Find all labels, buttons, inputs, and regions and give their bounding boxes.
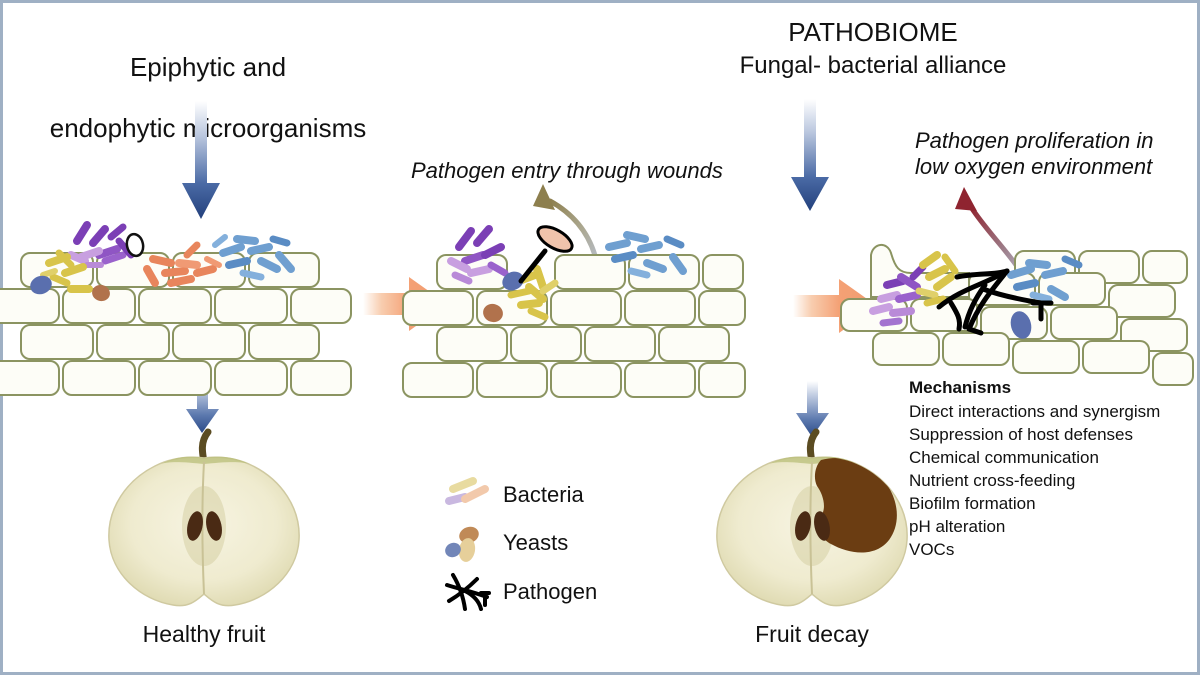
bacteria-rods-icon [443, 475, 495, 515]
legend-item-bacteria: Bacteria [443, 473, 643, 517]
mechanism-item: Direct interactions and synergism [909, 401, 1199, 424]
proliferation-annotation: Pathogen proliferation in low oxygen env… [915, 128, 1190, 181]
right-panel-title-block: PATHOBIOME Fungal- bacterial alliance [683, 17, 1063, 80]
mechanism-item: Chemical communication [909, 447, 1199, 470]
cell-wall-panel-3 [865, 233, 1191, 373]
cell-wall-panel-1 [15, 221, 325, 369]
figure-canvas: Epiphytic and endophytic microorganisms … [0, 0, 1200, 675]
proliferation-annotation-line2: low oxygen environment [915, 154, 1190, 180]
mechanism-item: pH alteration [909, 516, 1199, 539]
fruit-decay-caption: Fruit decay [699, 621, 925, 648]
legend: Bacteria Yeasts P [443, 473, 643, 615]
pathobiome-title: PATHOBIOME [683, 17, 1063, 48]
mechanisms-heading: Mechanisms [909, 378, 1199, 398]
legend-label-bacteria: Bacteria [503, 482, 584, 508]
arrow-head [955, 187, 977, 211]
apple-healthy [101, 428, 307, 613]
proliferation-annotation-line1: Pathogen proliferation in [915, 128, 1190, 154]
legend-label-yeasts: Yeasts [503, 530, 568, 556]
down-arrow-left-top [179, 101, 223, 221]
down-arrow-right-top [788, 99, 832, 213]
legend-label-pathogen: Pathogen [503, 579, 597, 605]
mechanism-item: Biofilm formation [909, 493, 1199, 516]
legend-item-yeasts: Yeasts [443, 521, 643, 565]
left-panel-title-line1: Epiphytic and [23, 52, 393, 83]
arrow-shape [182, 101, 220, 219]
yeast-ovals-icon [443, 523, 495, 563]
legend-item-pathogen: Pathogen [443, 569, 643, 615]
pathogen-hyphae-icon [443, 571, 495, 613]
mechanism-item: Suppression of host defenses [909, 424, 1199, 447]
mechanisms-block: Mechanisms Direct interactions and syner… [909, 378, 1199, 562]
healthy-fruit-caption: Healthy fruit [91, 621, 317, 648]
apple-decayed [709, 428, 915, 613]
pathobiome-subtitle: Fungal- bacterial alliance [683, 52, 1063, 80]
mechanism-item: VOCs [909, 539, 1199, 562]
mechanism-item: Nutrient cross-feeding [909, 470, 1199, 493]
arrow-shape [791, 99, 829, 211]
cell-wall-panel-2 [435, 225, 735, 370]
arrow-head [533, 184, 555, 210]
